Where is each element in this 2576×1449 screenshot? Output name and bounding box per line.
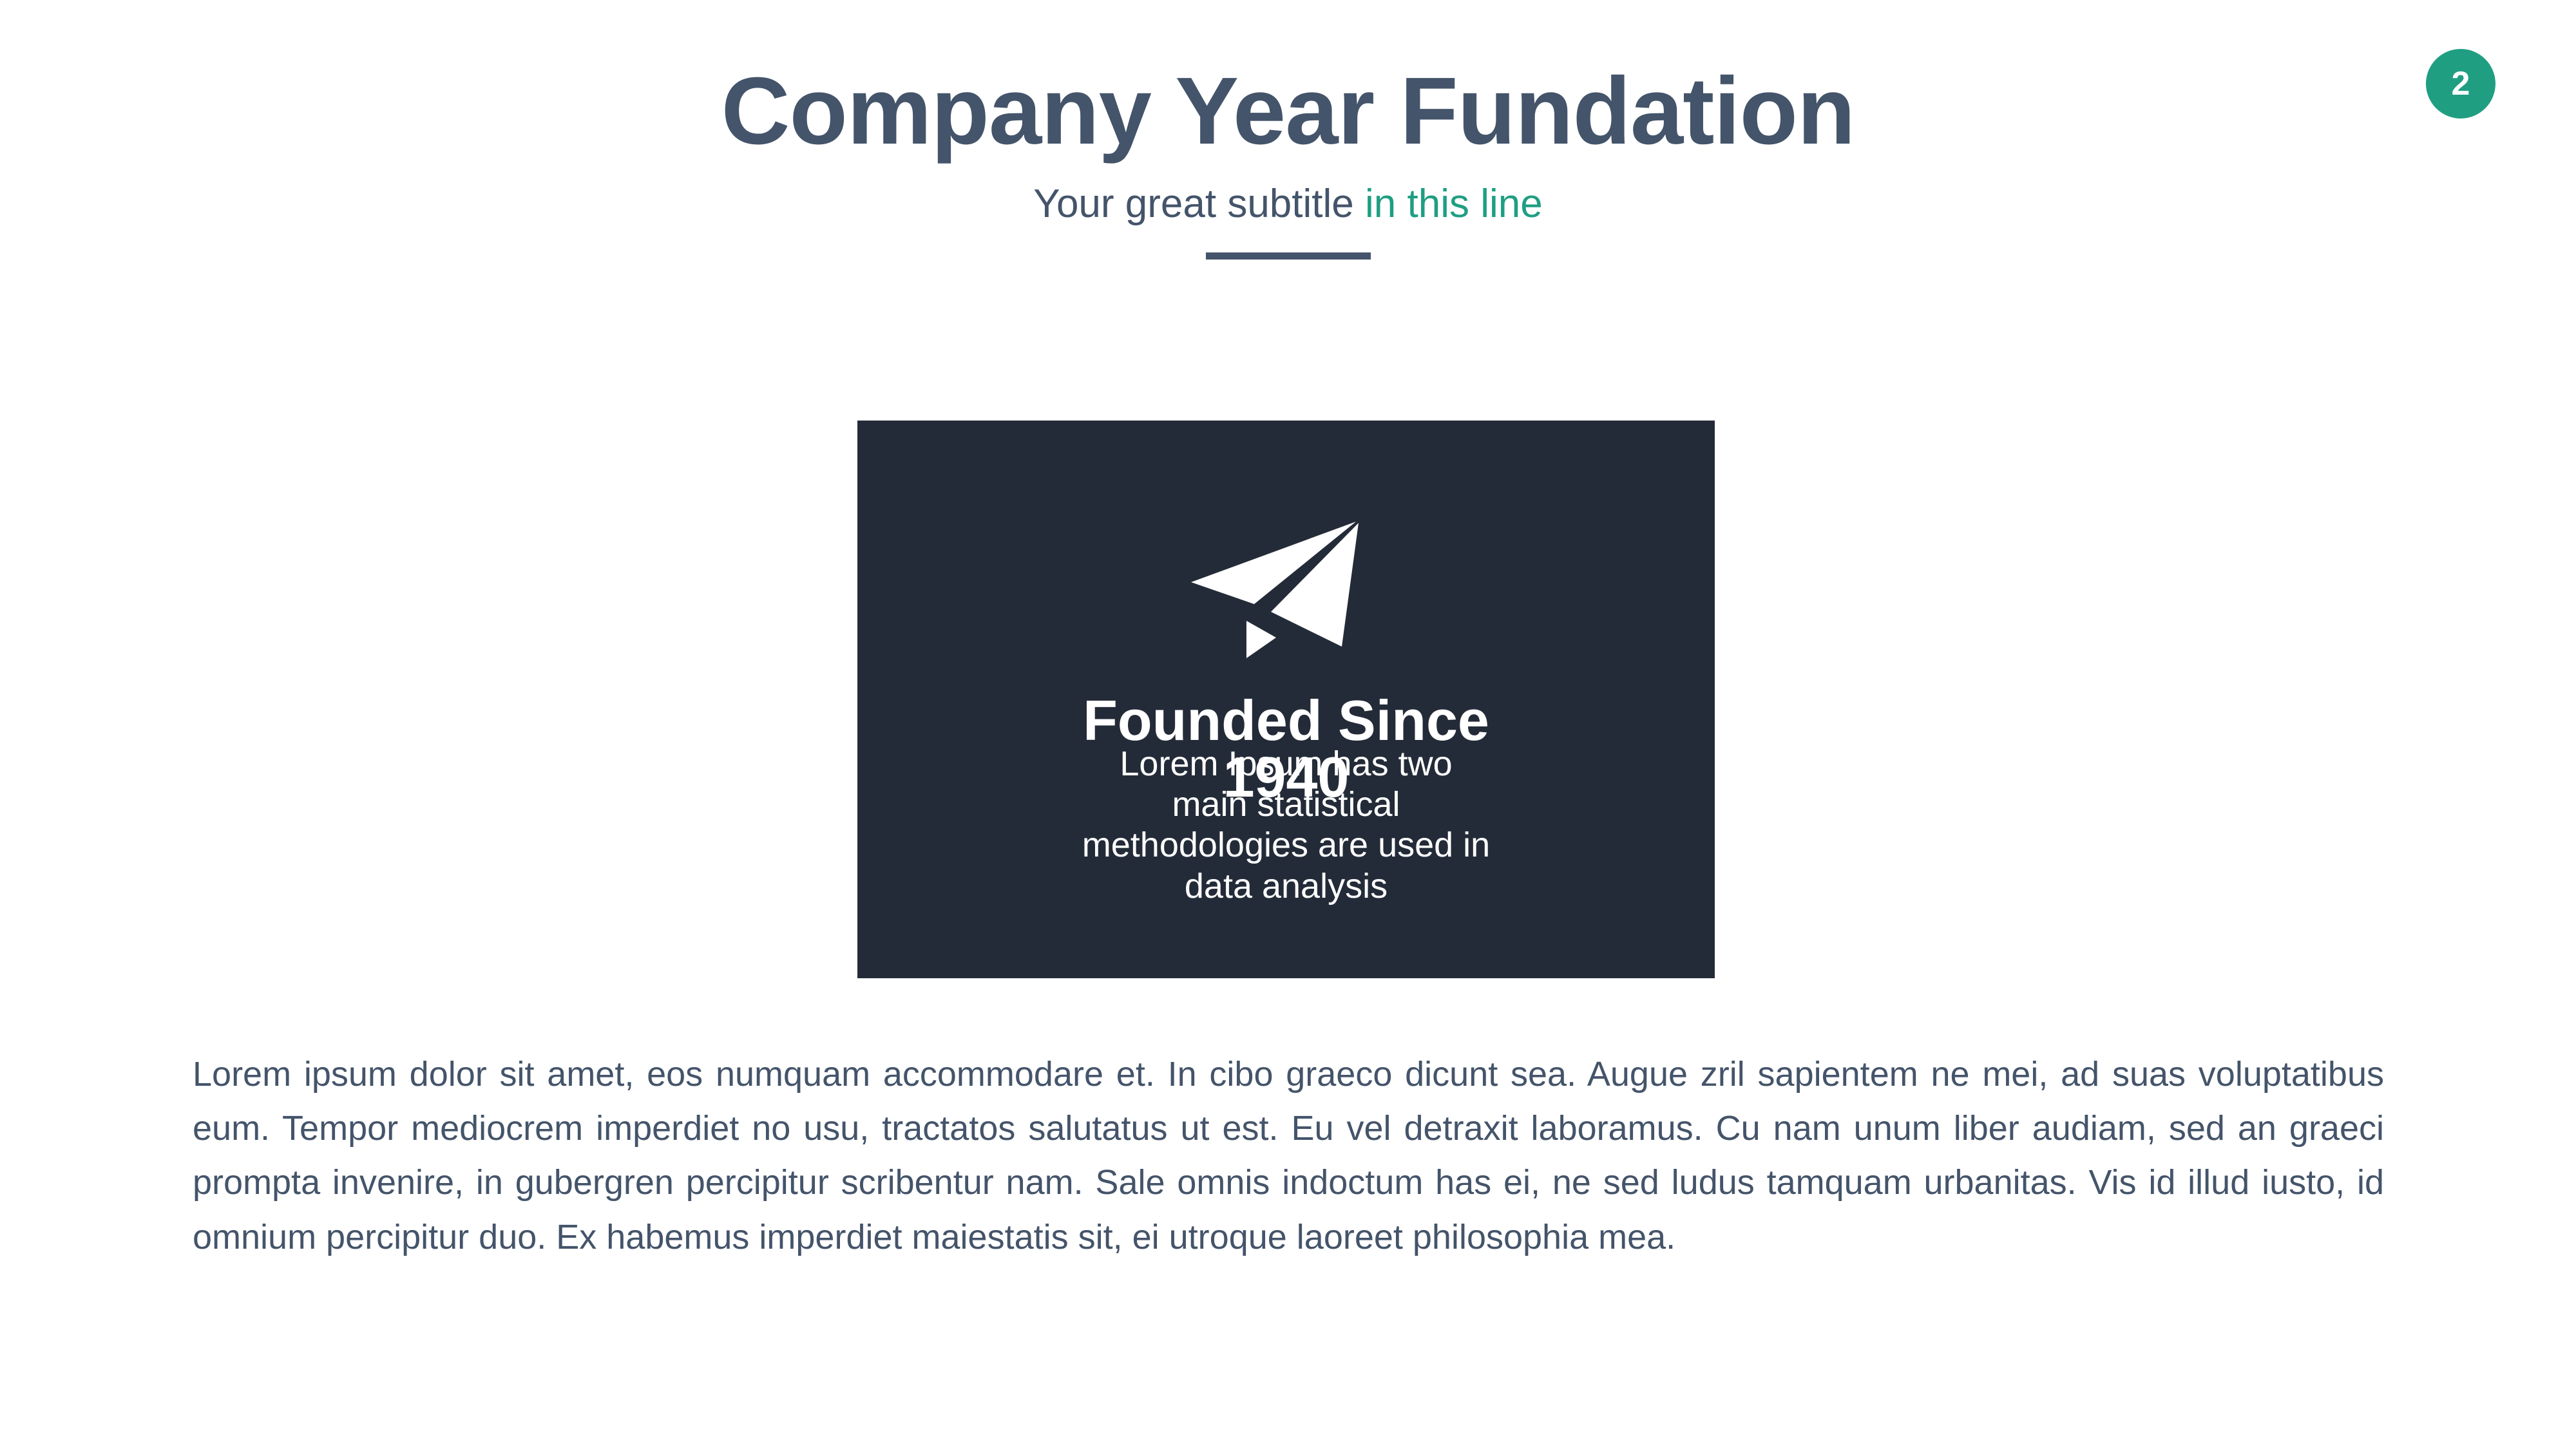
page-subtitle: Your great subtitle in this line [0,180,2576,228]
paper-plane-icon [857,514,1715,668]
card-heading: Founded Since 1940 [857,692,1715,806]
header-divider [1206,252,1371,260]
slide-header: Company Year Fundation Your great subtit… [0,58,2576,260]
founded-card: Founded Since 1940 Lorem Ipsum has two m… [857,421,1715,978]
slide-canvas: 2 Company Year Fundation Your great subt… [0,0,2576,1449]
subtitle-main-text: Your great subtitle [1033,182,1365,226]
subtitle-accent-text: in this line [1365,182,1543,226]
body-paragraph: Lorem ipsum dolor sit amet, eos numquam … [193,1047,2384,1264]
page-title: Company Year Fundation [0,58,2576,165]
card-heading-line-2: 1940 [857,749,1715,806]
card-heading-line-1: Founded Since [857,692,1715,749]
